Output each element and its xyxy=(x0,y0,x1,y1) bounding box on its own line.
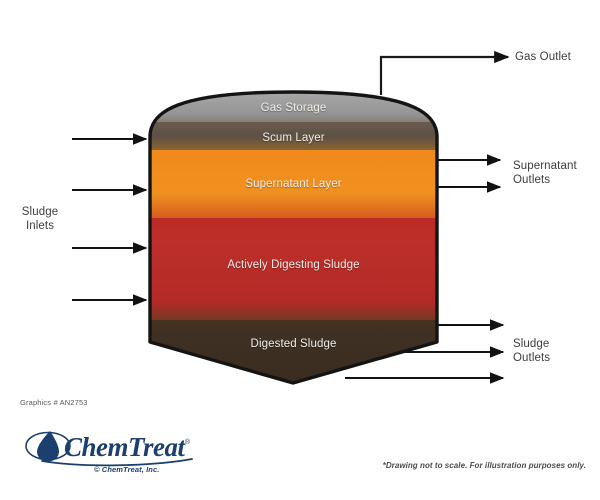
layer-label-supernatant: Supernatant Layer xyxy=(150,177,437,191)
graphics-id-label: Graphics # AN2753 xyxy=(20,398,88,407)
footnote-text: *Drawing not to scale. For illustration … xyxy=(383,461,586,470)
diagram-canvas xyxy=(0,0,600,500)
logo-copyright: © ChemTreat, Inc. xyxy=(94,465,159,474)
layer-label-gas-storage: Gas Storage xyxy=(150,101,437,115)
logo-wordmark: ChemTreat xyxy=(64,432,186,462)
logo-trademark: ® xyxy=(185,438,191,446)
chemtreat-logo: ChemTreat ® © ChemTreat, Inc. xyxy=(24,427,199,479)
logo-mark: ChemTreat ® xyxy=(24,427,199,467)
gas-outlet-pipe xyxy=(381,57,490,95)
sludge-outlets-label: Sludge Outlets xyxy=(513,337,597,366)
sludge-inlet-arrows xyxy=(72,139,146,300)
supernatant-outlet-arrows xyxy=(437,160,500,187)
layer-label-digesting-sludge: Actively Digesting Sludge xyxy=(150,258,437,272)
sludge-inlets-label: Sludge Inlets xyxy=(8,205,72,234)
digester-diagram: Gas Storage Scum Layer Supernatant Layer… xyxy=(0,0,600,500)
layer-label-digested-sludge: Digested Sludge xyxy=(150,337,437,351)
water-droplet-icon xyxy=(37,431,59,462)
layer-label-scum: Scum Layer xyxy=(150,131,437,145)
gas-outlet-label: Gas Outlet xyxy=(515,50,597,64)
supernatant-outlets-label: Supernatant Outlets xyxy=(513,159,599,188)
